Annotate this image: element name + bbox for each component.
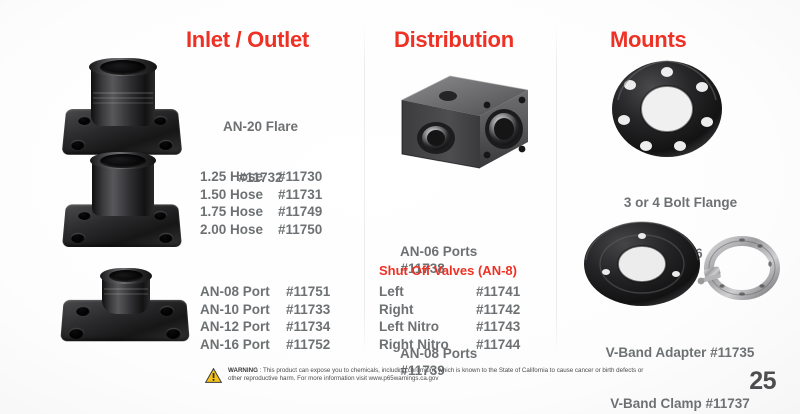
warning-text: WARNING : This product can expose you to… (228, 367, 645, 384)
list-item: V-Band Adapter #11735 (570, 344, 790, 361)
spec-list-shutoff: Left #11741 Right #11742 Left Nitro #117… (379, 283, 520, 353)
spec-list-vband: V-Band Adapter #11735 V-Band Clamp #1173… (570, 310, 790, 414)
page-number: 25 (749, 367, 776, 396)
spec-list-ports: AN-08 Port #11751 AN-10 Port #11733 AN-1… (200, 283, 330, 353)
product-image-an20-flare (58, 48, 188, 160)
list-item: Left Nitro #11743 (379, 318, 520, 336)
subheading-shut-off-valves: Shut Off Valves (AN-8) (379, 263, 517, 278)
spec-bolt-flange-label: 3 or 4 Bolt Flange (578, 194, 783, 211)
warning-triangle-icon (205, 368, 222, 388)
list-item: 2.00 Hose #11750 (200, 221, 322, 239)
warning-lead: WARNING (228, 367, 258, 374)
spec-list-hose: 1.25 Hose #11730 1.50 Hose #11731 1.75 H… (200, 168, 322, 238)
column-divider-1 (364, 24, 365, 354)
list-item: AN-12 Port #11734 (200, 318, 330, 336)
list-item: Right #11742 (379, 301, 520, 319)
prop65-warning: WARNING : This product can expose you to… (205, 367, 645, 388)
vband-svg (580, 216, 780, 308)
section-title-distribution: Distribution (394, 27, 514, 53)
catalog-page: Inlet / Outlet AN-20 Flare #11732 1 (0, 0, 800, 414)
bolt-flange-svg (608, 60, 726, 158)
product-image-bolt-flange (608, 60, 726, 158)
column-divider-2 (556, 24, 557, 354)
list-item: AN-10 Port #11733 (200, 301, 330, 319)
section-title-mounts: Mounts (610, 27, 686, 53)
product-image-distribution-block (388, 72, 538, 177)
list-item: AN-16 Port #11752 (200, 336, 330, 354)
distribution-block-svg (388, 72, 538, 177)
list-item: Left #11741 (379, 283, 520, 301)
list-item: AN-08 Port #11751 (200, 283, 330, 301)
product-image-port-fitting (58, 262, 198, 354)
product-image-hose-fitting (58, 150, 188, 250)
list-item: 1.25 Hose #11730 (200, 168, 322, 186)
section-title-inlet-outlet: Inlet / Outlet (186, 27, 309, 53)
list-item: Right Nitro #11744 (379, 336, 520, 354)
list-item: V-Band Clamp #11737 (570, 395, 790, 412)
warning-line-1: This product can expose you to chemicals… (263, 367, 555, 374)
list-item: 1.75 Hose #11749 (200, 203, 322, 221)
list-item: 1.50 Hose #11731 (200, 186, 322, 204)
product-image-vband (580, 216, 780, 308)
spec-an20-flare-label: AN-20 Flare (188, 118, 333, 135)
